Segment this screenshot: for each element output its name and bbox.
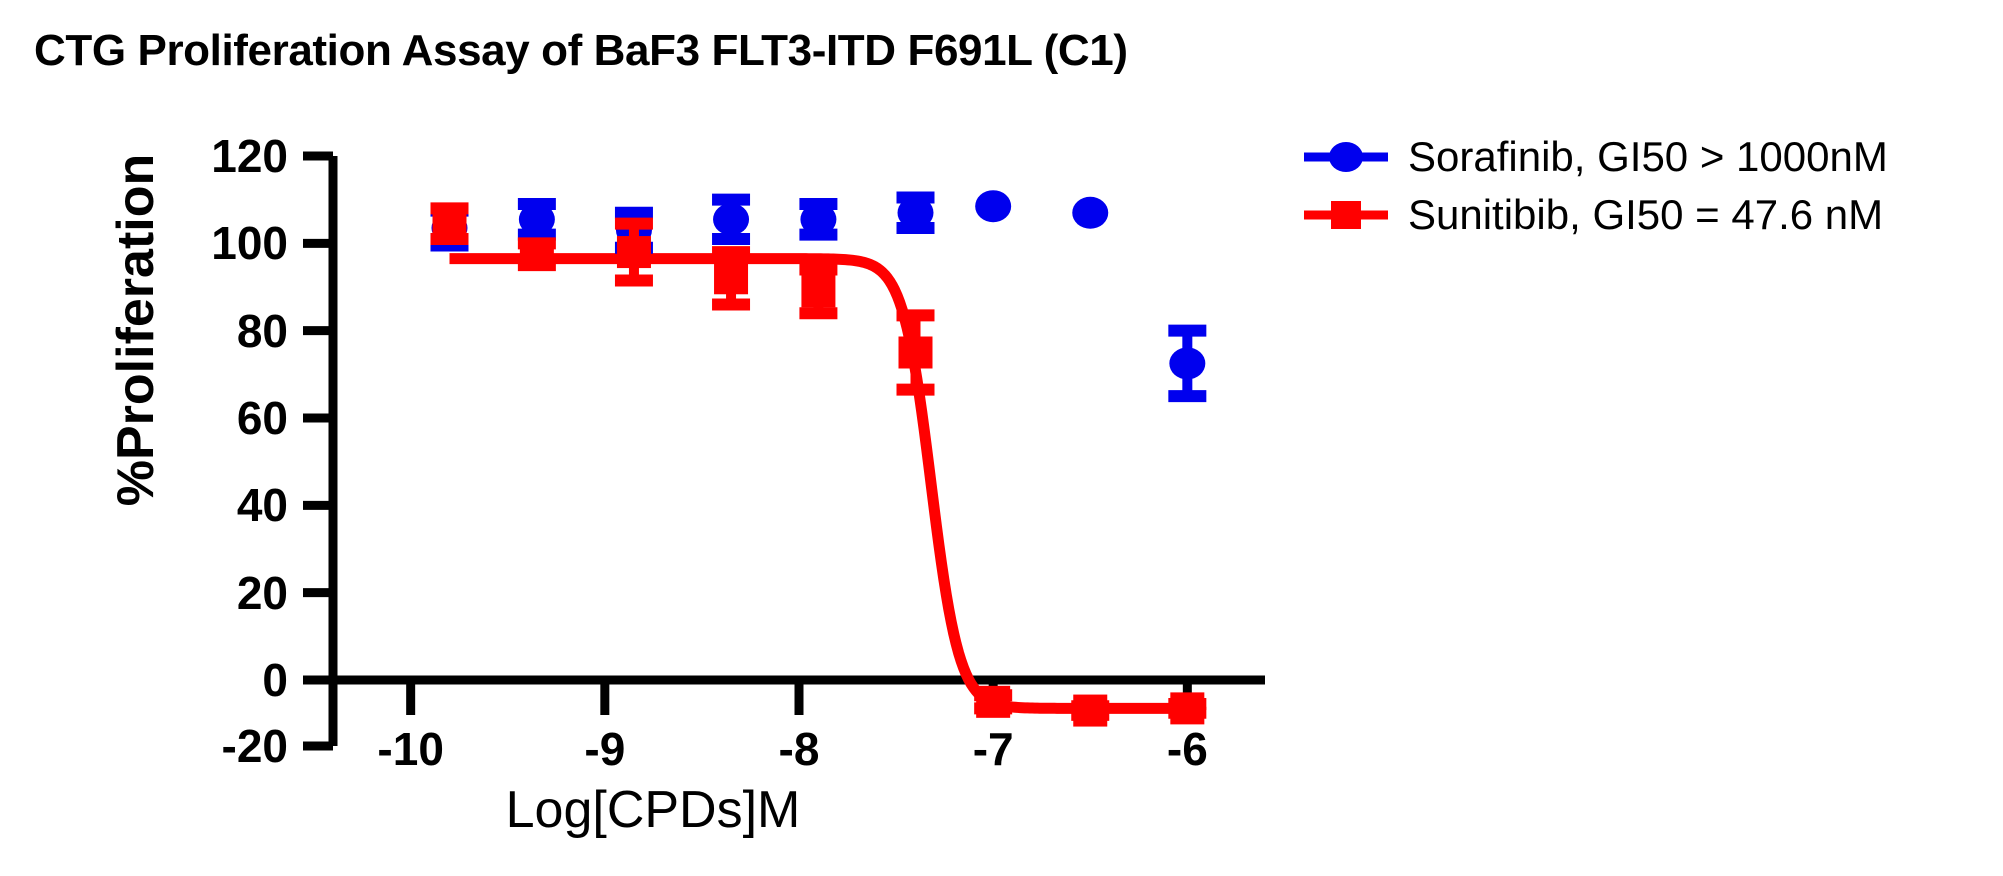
y-tick-label: 0 <box>120 653 288 707</box>
legend-marker-circle-icon <box>1300 135 1392 179</box>
axis-lines <box>333 156 1265 746</box>
x-tick-label: -8 <box>779 722 820 776</box>
sunitibib-fit-curve <box>450 259 1188 709</box>
x-tick-label: -9 <box>584 722 625 776</box>
chart-legend: Sorafinib, GI50 > 1000nM Sunitibib, GI50… <box>1300 128 2000 244</box>
legend-label-sorafinib: Sorafinib, GI50 > 1000nM <box>1392 133 1888 181</box>
y-tick-label: 20 <box>120 566 288 620</box>
legend-item-sorafinib: Sorafinib, GI50 > 1000nM <box>1300 128 2000 186</box>
x-tick-label: -10 <box>377 722 443 776</box>
chart-figure: CTG Proliferation Assay of BaF3 FLT3-ITD… <box>0 0 2003 876</box>
legend-marker-square-icon <box>1300 193 1392 237</box>
series-sunitibib-points <box>431 208 1207 727</box>
x-tick-label: -6 <box>1167 722 1208 776</box>
legend-label-sunitibib: Sunitibib, GI50 = 47.6 nM <box>1392 191 1883 239</box>
x-tick-label: -7 <box>973 722 1014 776</box>
y-axis-title: %Proliferation <box>106 120 166 540</box>
y-tick-label: -20 <box>120 719 288 773</box>
x-axis-title: Log[CPDs]M <box>333 780 973 840</box>
legend-item-sunitibib: Sunitibib, GI50 = 47.6 nM <box>1300 186 2000 244</box>
